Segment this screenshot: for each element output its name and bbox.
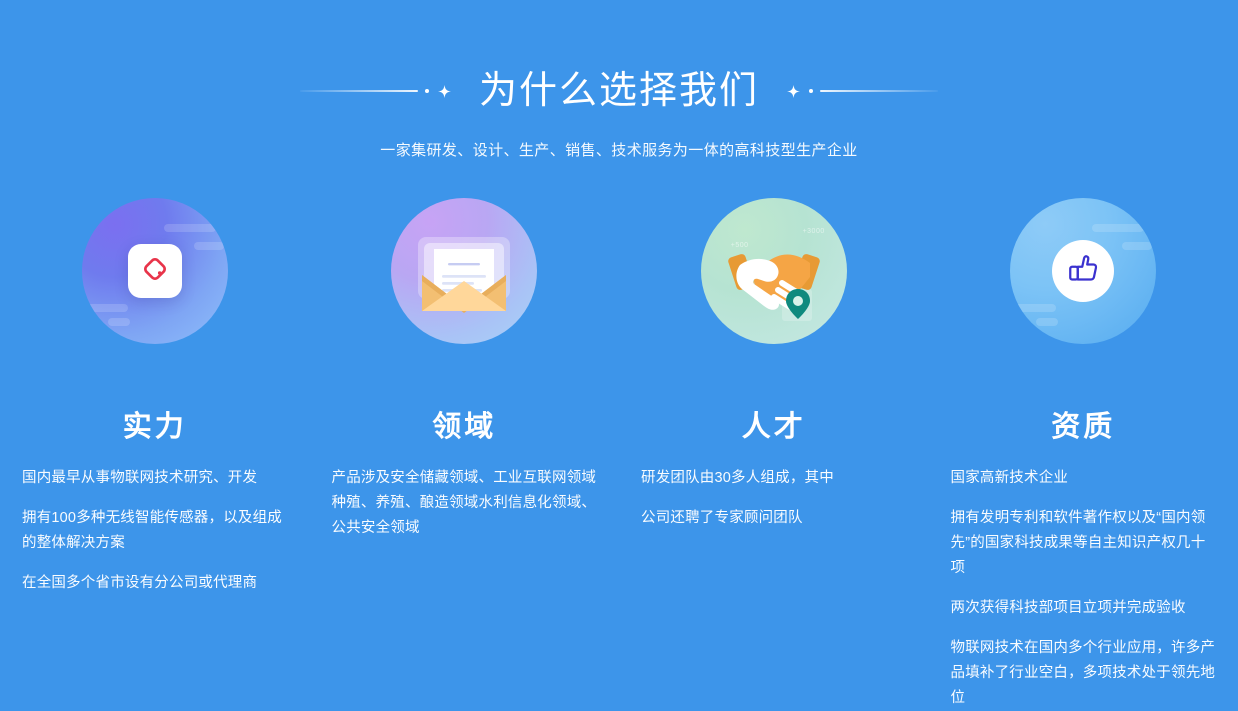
title-decoration-right — [785, 81, 938, 101]
decorative-streak — [194, 242, 224, 250]
icon-circle-talent: +3000 +500 +800 — [701, 198, 847, 344]
title-row: 为什么选择我们 — [0, 62, 1238, 120]
thumbs-up-icon — [1065, 251, 1101, 292]
feature-column-talent: +3000 +500 +800 — [619, 198, 929, 531]
body-line: 拥有发明专利和软件著作权以及“国内领先”的国家科技成果等自主知识产权几十项 — [951, 506, 1217, 581]
decorative-streak — [1012, 304, 1056, 312]
icon-circle-field — [391, 198, 537, 344]
why-choose-us-section: 为什么选择我们 一家集研发、设计、生产、销售、技术服务为一体的高科技型生产企业 — [0, 0, 1238, 698]
decoration-star-icon — [787, 85, 800, 98]
decoration-line-icon — [820, 90, 938, 92]
body-line: 产品涉及安全储藏领域、工业互联网领域种殖、养殖、酿造领域水利信息化领域、公共安全… — [332, 466, 598, 541]
icon-chip — [1052, 240, 1114, 302]
column-body-strength: 国内最早从事物联网技术研究、开发 拥有100多种无线智能传感器，以及组成的整体解… — [14, 466, 296, 596]
section-header: 为什么选择我们 一家集研发、设计、生产、销售、技术服务为一体的高科技型生产企业 — [0, 0, 1238, 162]
decoration-line-icon — [300, 90, 418, 92]
column-body-talent: 研发团队由30多人组成，其中 公司还聘了专家顾问团队 — [633, 466, 915, 531]
body-line: 国家高新技术企业 — [951, 466, 1217, 491]
feature-columns: 实力 国内最早从事物联网技术研究、开发 拥有100多种无线智能传感器，以及组成的… — [0, 198, 1238, 711]
body-line: 在全国多个省市设有分公司或代理商 — [22, 571, 288, 596]
body-line: 拥有100多种无线智能传感器，以及组成的整体解决方案 — [22, 506, 288, 556]
decoration-star-icon — [438, 85, 451, 98]
icon-circle-strength — [82, 198, 228, 344]
decorative-streak — [164, 224, 216, 232]
decoration-dot-icon — [425, 89, 429, 93]
page-subtitle: 一家集研发、设计、生产、销售、技术服务为一体的高科技型生产企业 — [0, 140, 1238, 162]
column-title-talent: 人才 — [742, 408, 806, 446]
icon-chip — [128, 244, 182, 298]
feature-column-field: 领域 产品涉及安全储藏领域、工业互联网领域种殖、养殖、酿造领域水利信息化领域、公… — [310, 198, 620, 541]
page-title: 为什么选择我们 — [479, 68, 759, 114]
title-decoration-left — [300, 81, 453, 101]
decorative-streak — [1036, 318, 1058, 326]
decoration-dot-icon — [809, 89, 813, 93]
feature-column-strength: 实力 国内最早从事物联网技术研究、开发 拥有100多种无线智能传感器，以及组成的… — [0, 198, 310, 596]
body-line: 国内最早从事物联网技术研究、开发 — [22, 466, 288, 491]
body-line: 公司还聘了专家顾问团队 — [641, 506, 907, 531]
column-body-certification: 国家高新技术企业 拥有发明专利和软件著作权以及“国内领先”的国家科技成果等自主知… — [943, 466, 1225, 711]
decorative-streak — [1092, 224, 1144, 232]
decorative-streak — [1122, 242, 1152, 250]
column-body-field: 产品涉及安全储藏领域、工业互联网领域种殖、养殖、酿造领域水利信息化领域、公共安全… — [324, 466, 606, 541]
envelope-letter-icon — [404, 211, 524, 331]
decorative-streak — [84, 304, 128, 312]
column-title-strength: 实力 — [123, 408, 187, 446]
column-title-certification: 资质 — [1051, 408, 1115, 446]
decorative-streak — [108, 318, 130, 326]
icon-circle-certification — [1010, 198, 1156, 344]
body-line: 物联网技术在国内多个行业应用，许多产品填补了行业空白，多项技术处于领先地位 — [951, 636, 1217, 711]
body-line: 两次获得科技部项目立项并完成验收 — [951, 596, 1217, 621]
feature-column-certification: 资质 国家高新技术企业 拥有发明专利和软件著作权以及“国内领先”的国家科技成果等… — [929, 198, 1238, 711]
body-line: 研发团队由30多人组成，其中 — [641, 466, 907, 491]
diamond-badge-icon — [139, 253, 171, 290]
column-title-field: 领域 — [432, 408, 496, 446]
handshake-icon — [714, 211, 834, 331]
